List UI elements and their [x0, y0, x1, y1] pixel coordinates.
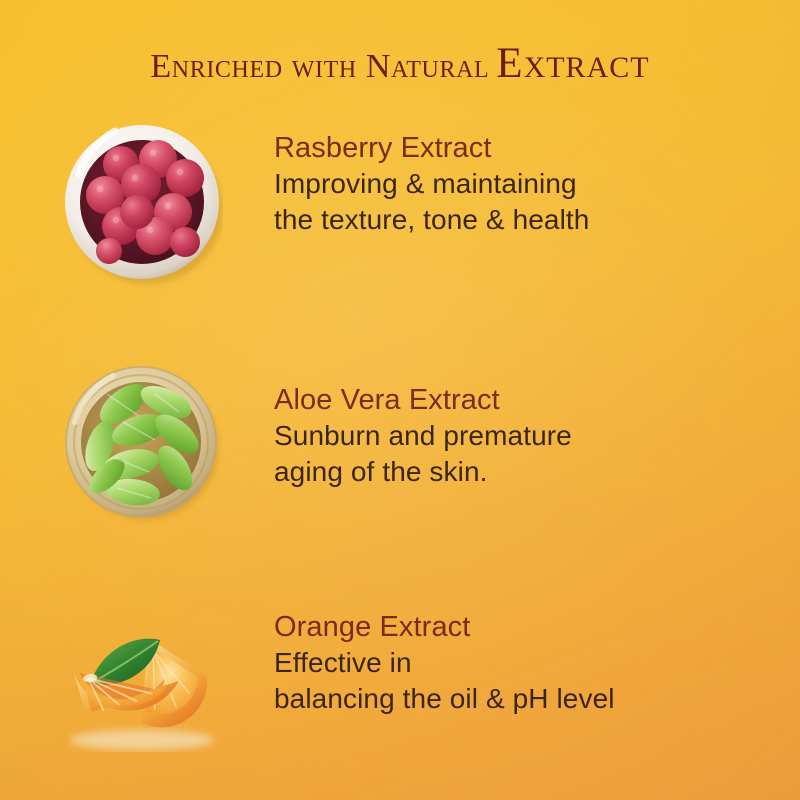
raspberry-copy: Rasberry Extract Improving & maintaining… — [274, 133, 774, 237]
wooden-bowl-of-aloe-vera-slices-icon — [63, 364, 223, 529]
bowl-of-raspberries-icon — [63, 112, 223, 292]
raspberry-description-line-1: Improving & maintaining — [274, 166, 774, 202]
aloe-vera-artwork — [63, 364, 223, 534]
ingredient-row-aloe-vera: Aloe Vera Extract Sunburn and premature … — [0, 362, 800, 542]
aloe-vera-description-line-1: Sunburn and premature — [274, 418, 774, 454]
orange-wedges-with-leaf-icon — [62, 622, 237, 752]
orange-title: Orange Extract — [274, 612, 774, 643]
orange-description-line-2: balancing the oil & pH level — [274, 681, 774, 717]
aloe-vera-description: Sunburn and premature aging of the skin. — [274, 418, 774, 490]
ingredient-infographic-panel: Enriched with NaturalExtract — [0, 0, 800, 800]
orange-copy: Orange Extract Effective in balancing th… — [274, 612, 774, 716]
aloe-vera-copy: Aloe Vera Extract Sunburn and premature … — [274, 385, 774, 489]
raspberry-title: Rasberry Extract — [274, 133, 774, 164]
heading-text-emphasis: Extract — [496, 40, 649, 87]
ingredient-row-orange: Orange Extract Effective in balancing th… — [0, 612, 800, 772]
heading-text-primary: Enriched with Natural — [150, 48, 489, 85]
raspberry-artwork — [63, 112, 223, 297]
raspberry-description-line-2: the texture, tone & health — [274, 202, 774, 238]
panel-heading: Enriched with NaturalExtract — [0, 42, 800, 85]
aloe-vera-title: Aloe Vera Extract — [274, 385, 774, 416]
orange-artwork — [62, 622, 237, 757]
raspberry-description: Improving & maintaining the texture, ton… — [274, 166, 774, 238]
aloe-vera-description-line-2: aging of the skin. — [274, 454, 774, 490]
ingredient-row-raspberry: Rasberry Extract Improving & maintaining… — [0, 112, 800, 292]
orange-description-line-1: Effective in — [274, 645, 774, 681]
orange-description: Effective in balancing the oil & pH leve… — [274, 645, 774, 717]
